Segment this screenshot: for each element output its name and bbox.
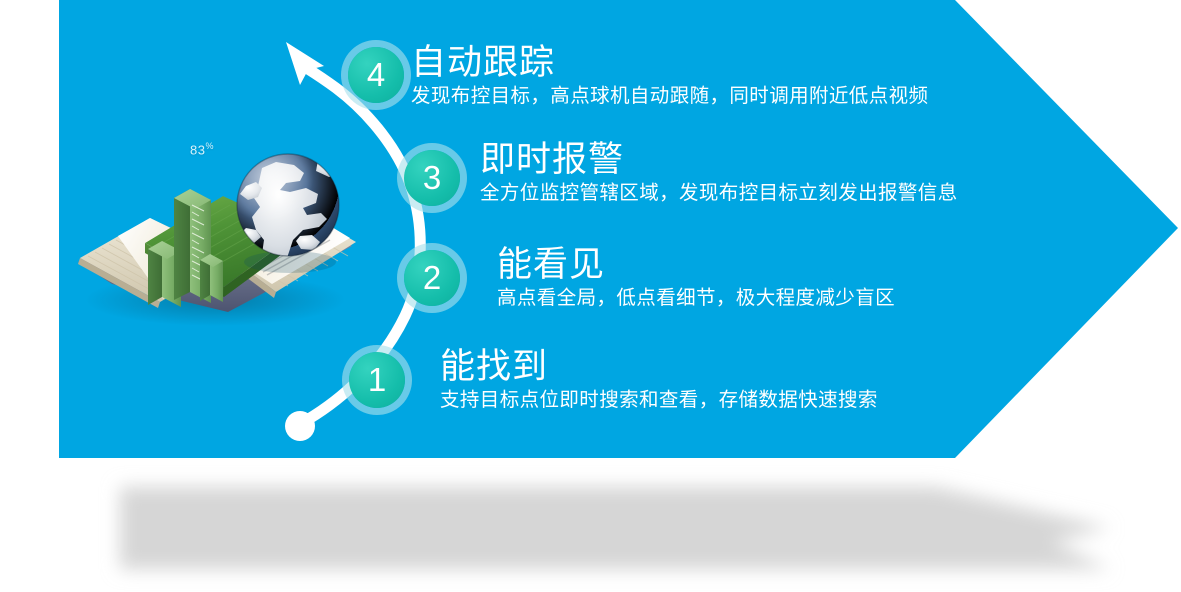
step-number-1: 1	[368, 363, 386, 396]
step-title-2: 能看见	[497, 246, 895, 283]
step-text-4: 自动跟踪 发现布控目标，高点球机自动跟随，同时调用附近低点视频	[411, 44, 928, 108]
step-badge-1[interactable]: 1	[349, 352, 405, 408]
step-desc-4: 发现布控目标，高点球机自动跟随，同时调用附近低点视频	[411, 85, 928, 108]
step-title-4: 自动跟踪	[411, 44, 928, 81]
banner-shadow	[120, 487, 1110, 569]
step-text-1: 能找到 支持目标点位即时搜索和查看，存储数据快速搜索	[440, 348, 878, 412]
step-number-2: 2	[423, 261, 441, 294]
chart-bar-right	[200, 254, 223, 302]
step-desc-2: 高点看全局，低点看细节，极大程度减少盲区	[497, 287, 895, 310]
step-badge-3[interactable]: 3	[404, 150, 460, 206]
step-title-1: 能找到	[440, 348, 878, 385]
step-badge-2[interactable]: 2	[404, 250, 460, 306]
step-title-3: 即时报警	[480, 141, 958, 178]
infographic-canvas: 4 自动跟踪 发现布控目标，高点球机自动跟随，同时调用附近低点视频 3 即时报警…	[0, 0, 1181, 592]
step-number-3: 3	[423, 161, 441, 194]
step-desc-1: 支持目标点位即时搜索和查看，存储数据快速搜索	[440, 389, 878, 412]
step-badge-4[interactable]: 4	[348, 47, 404, 103]
step-text-3: 即时报警 全方位监控管辖区域，发现布控目标立刻发出报警信息	[480, 141, 958, 205]
flow-start-dot	[285, 411, 315, 441]
step-text-2: 能看见 高点看全局，低点看细节，极大程度减少盲区	[497, 246, 895, 310]
step-desc-3: 全方位监控管辖区域，发现布控目标立刻发出报警信息	[480, 182, 958, 205]
step-number-4: 4	[367, 58, 385, 91]
